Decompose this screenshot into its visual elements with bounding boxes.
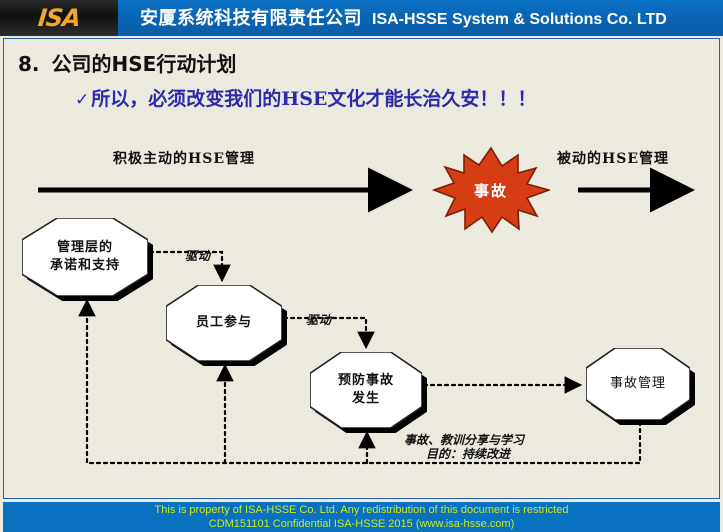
node-label-line2: 承诺和支持 xyxy=(50,257,120,275)
company-title-cn: 安厦系统科技有限责任公司 xyxy=(140,8,362,28)
slide-footer: This is property of ISA-HSSE Co. Ltd. An… xyxy=(3,502,720,532)
slide-header: ISA 安厦系统科技有限责任公司ISA-HSSE System & Soluti… xyxy=(0,0,723,36)
node-label: 管理层的 承诺和支持 xyxy=(22,218,148,296)
proactive-arrow-label: 积极主动的HSE管理 xyxy=(113,148,255,168)
accident-burst-shape xyxy=(432,146,550,234)
node-label: 员工参与 xyxy=(166,285,282,361)
company-title: 安厦系统科技有限责任公司ISA-HSSE System & Solutions … xyxy=(140,0,667,36)
slide-title: 8.公司的HSE行动计划 xyxy=(18,48,236,77)
reactive-arrow-label: 被动的HSE管理 xyxy=(557,148,669,168)
checkmark-icon: ✓ xyxy=(75,90,89,110)
footer-line-2: CDM151101 Confidential ISA-HSSE 2015 (ww… xyxy=(3,517,720,531)
node-label-line1: 预防事故 xyxy=(338,372,394,390)
drive-label-2: 驱动 xyxy=(306,311,332,328)
footer-line-1: This is property of ISA-HSSE Co. Ltd. An… xyxy=(3,503,720,517)
feedback-loop-note: 事故、教训分享与学习 目的：持续改进 xyxy=(404,434,524,462)
slide-bullet-text: 所以，必须改变我们的HSE文化才能长治久安！！！ xyxy=(91,88,536,110)
slide-bullet: ✓所以，必须改变我们的HSE文化才能长治久安！！！ xyxy=(75,84,536,111)
node-label: 预防事故 发生 xyxy=(310,352,422,428)
node-management-commitment[interactable]: 管理层的 承诺和支持 xyxy=(22,218,148,296)
slide-title-text: 公司的HSE行动计划 xyxy=(52,52,237,76)
slide-number: 8. xyxy=(18,52,40,76)
node-label: 事故管理 xyxy=(586,348,690,420)
loop-note-line1: 事故、教训分享与学习 xyxy=(404,433,524,447)
isa-logo: ISA xyxy=(23,4,96,32)
node-label-line1: 事故管理 xyxy=(610,375,666,393)
node-label-line1: 管理层的 xyxy=(57,239,113,257)
loop-note-line2: 目的：持续改进 xyxy=(426,448,524,462)
node-label-line2: 发生 xyxy=(352,390,380,408)
node-label-line1: 员工参与 xyxy=(196,314,252,332)
drive-label-1: 驱动 xyxy=(185,247,211,264)
node-accident-management[interactable]: 事故管理 xyxy=(586,348,690,420)
node-accident-prevention[interactable]: 预防事故 发生 xyxy=(310,352,422,428)
company-title-en: ISA-HSSE System & Solutions Co. LTD xyxy=(372,11,667,28)
slide-canvas: ISA 安厦系统科技有限责任公司ISA-HSSE System & Soluti… xyxy=(0,0,723,532)
node-employee-participation[interactable]: 员工参与 xyxy=(166,285,282,361)
